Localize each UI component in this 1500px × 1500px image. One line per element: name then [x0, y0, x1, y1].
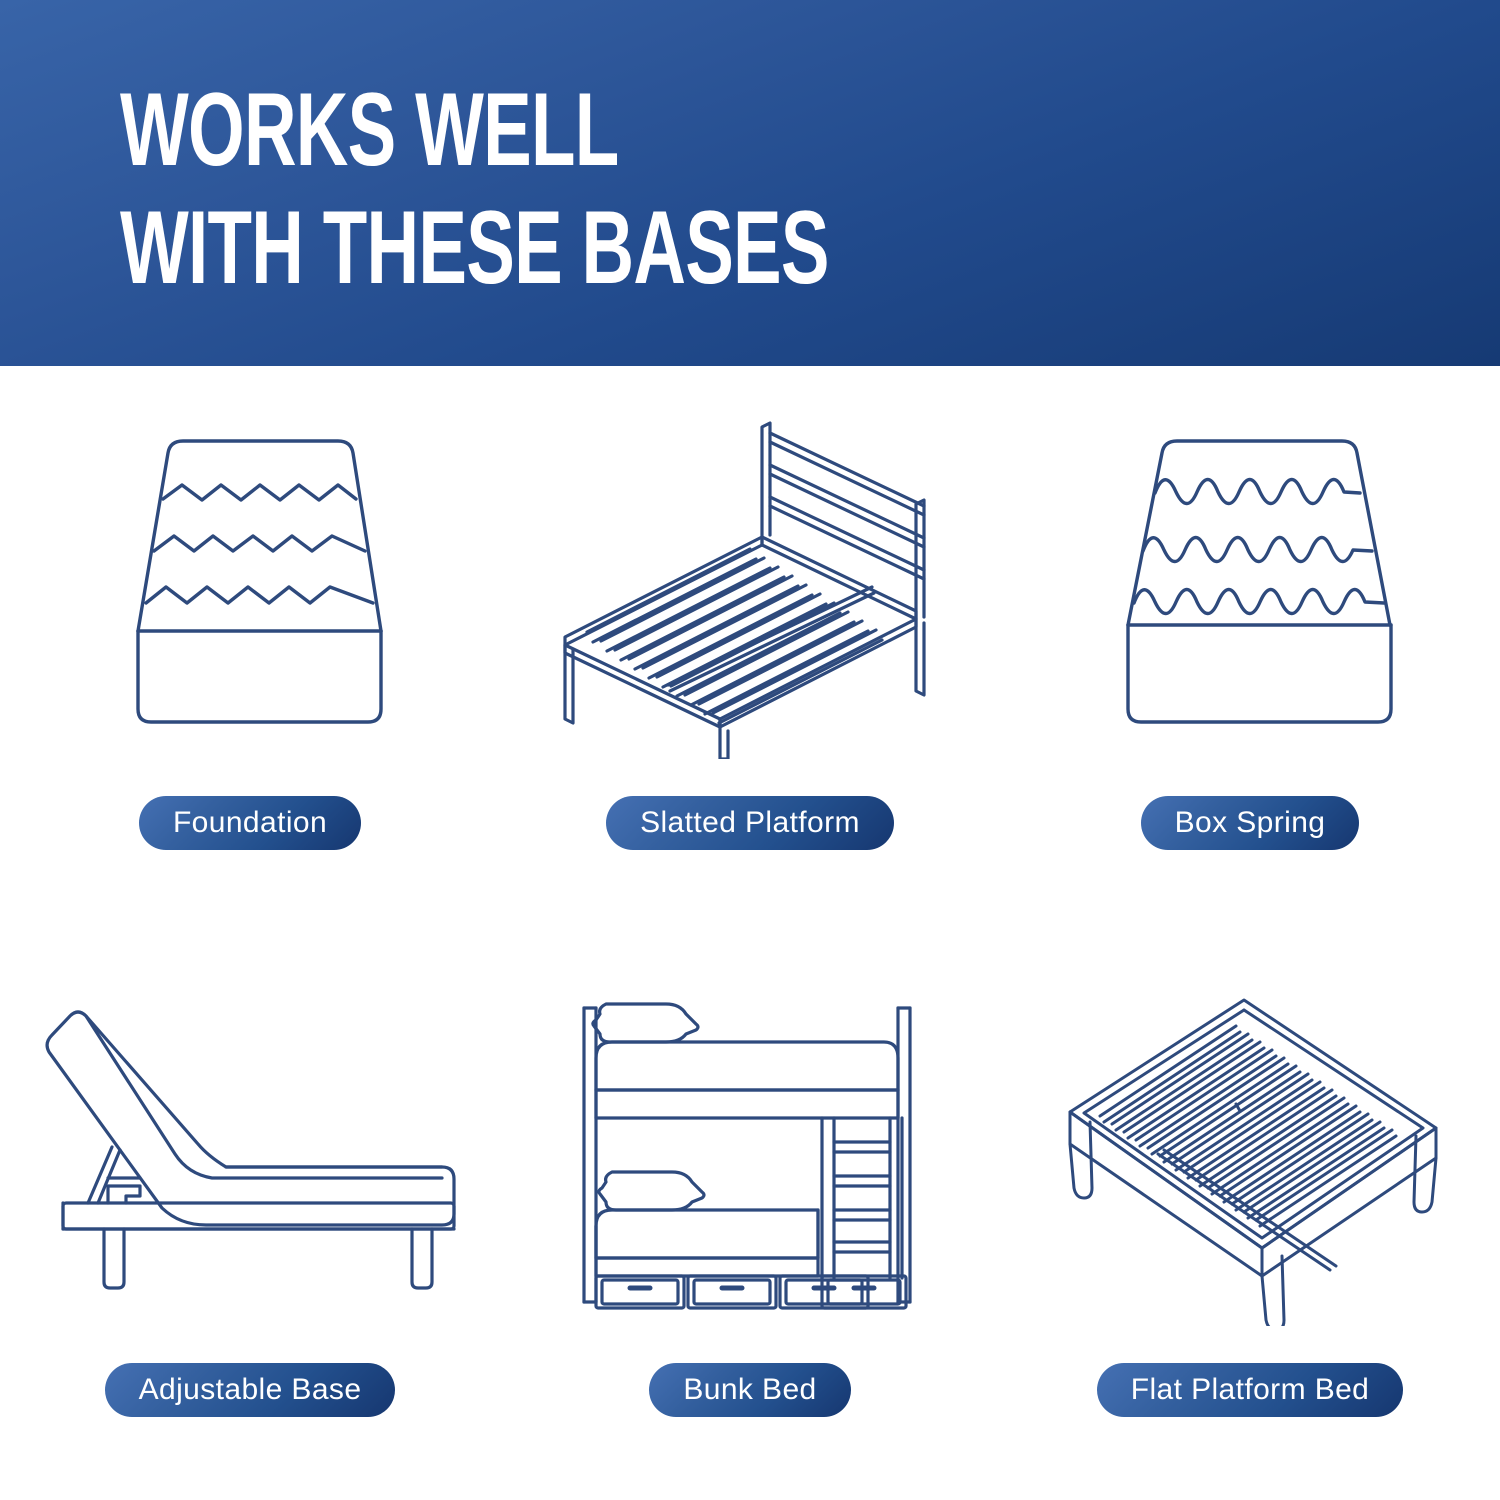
base-card-box-spring: Box Spring [1000, 366, 1500, 933]
bunk-bed-icon [500, 951, 1000, 1351]
label-pill-box-spring[interactable]: Box Spring [1141, 796, 1360, 850]
base-card-foundation: Foundation [0, 366, 500, 933]
base-card-flat-platform-bed: Flat Platform Bed [1000, 933, 1500, 1500]
infographic-page: WORKS WELL WITH THESE BASES [0, 0, 1500, 1500]
bases-grid: Foundation [0, 366, 1500, 1500]
header-banner: WORKS WELL WITH THESE BASES [0, 0, 1500, 366]
label-pill-foundation[interactable]: Foundation [139, 796, 361, 850]
label-pill-bunk-bed[interactable]: Bunk Bed [649, 1363, 850, 1417]
bunk-bed-label-wrap: Bunk Bed [500, 1363, 1000, 1417]
slatted-platform-bed-icon [500, 384, 1000, 784]
flat-platform-bed-label-wrap: Flat Platform Bed [1000, 1363, 1500, 1417]
foundation-mattress-icon [0, 384, 500, 784]
page-title-line-2: WITH THESE BASES [120, 196, 829, 300]
label-pill-slatted-platform[interactable]: Slatted Platform [606, 796, 894, 850]
foundation-label-wrap: Foundation [0, 796, 500, 850]
base-card-slatted-platform: Slatted Platform [500, 366, 1000, 933]
flat-platform-bed-icon [1000, 951, 1500, 1351]
slatted-platform-label-wrap: Slatted Platform [500, 796, 1000, 850]
base-card-bunk-bed: Bunk Bed [500, 933, 1000, 1500]
page-title-line-1: WORKS WELL [120, 78, 829, 182]
base-card-adjustable-base: Adjustable Base [0, 933, 500, 1500]
label-pill-adjustable-base[interactable]: Adjustable Base [105, 1363, 396, 1417]
adjustable-base-label-wrap: Adjustable Base [0, 1363, 500, 1417]
adjustable-base-icon [0, 951, 500, 1351]
page-title: WORKS WELL WITH THESE BASES [120, 78, 1133, 314]
box-spring-icon [1000, 384, 1500, 784]
box-spring-label-wrap: Box Spring [1000, 796, 1500, 850]
label-pill-flat-platform-bed[interactable]: Flat Platform Bed [1097, 1363, 1404, 1417]
